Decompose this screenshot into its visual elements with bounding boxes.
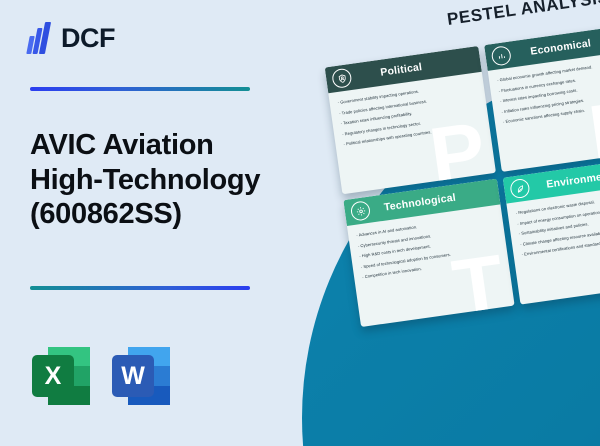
left-panel: DCF AVIC Aviation High-Technology (60086… <box>0 0 310 446</box>
card-environment[interactable]: Environment E Regulations on electronic … <box>503 156 600 304</box>
word-file-icon: W <box>112 345 170 407</box>
word-letter: W <box>112 355 154 397</box>
divider-top <box>30 87 250 91</box>
divider-bottom <box>30 286 250 290</box>
card-economical[interactable]: Economical E Global economic growth affe… <box>484 24 600 172</box>
pestel-card-grid: Political P Government stability impacti… <box>325 24 600 327</box>
excel-letter: X <box>32 355 74 397</box>
excel-file-icon: X <box>32 345 90 407</box>
card-technological[interactable]: Technological T Advances in AI and autom… <box>343 179 514 327</box>
pestel-poster: PESTEL ANALYSIS Political P Government s… <box>318 0 600 347</box>
poster-canvas: DCF AVIC Aviation High-Technology (60086… <box>0 0 600 446</box>
bar-chart-logo-icon <box>28 22 54 54</box>
brand-logo: DCF <box>28 22 115 54</box>
brand-name: DCF <box>61 23 115 54</box>
poster-heading: PESTEL ANALYSIS <box>446 0 600 30</box>
file-icon-group: X W <box>32 345 170 407</box>
card-political[interactable]: Political P Government stability impacti… <box>325 46 496 194</box>
page-title: AVIC Aviation High-Technology (600862SS) <box>30 128 292 232</box>
